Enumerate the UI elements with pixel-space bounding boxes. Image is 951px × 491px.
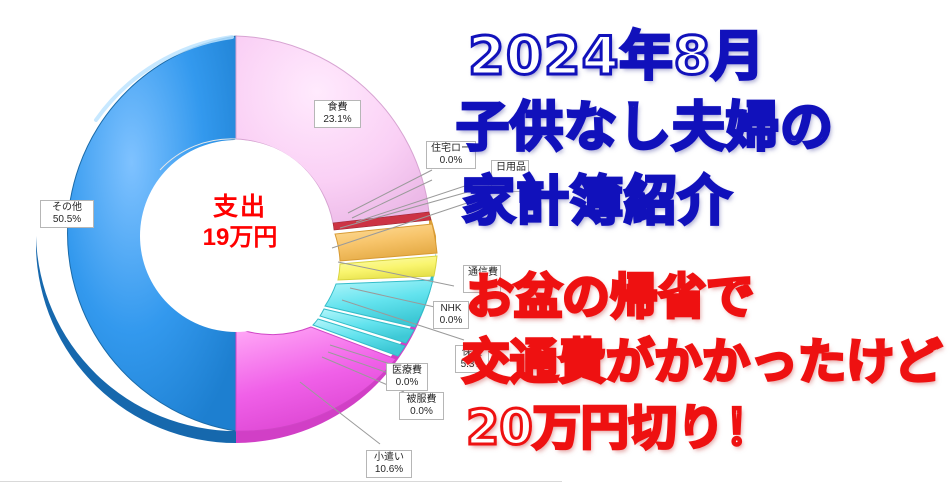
headline-red-line2: 交通費がかかったけど — [462, 322, 942, 392]
callout-pocket-money[interactable]: 小遣い 10.6% — [366, 450, 412, 478]
callout-food-name: 食費 — [319, 102, 356, 114]
callout-other-pct: 50.5% — [45, 214, 89, 226]
headline-blue-line3: 家計簿紹介 — [462, 159, 732, 235]
callout-food-pct: 23.1% — [319, 114, 356, 126]
callout-pocket-money-name: 小遣い — [371, 452, 407, 464]
callout-food[interactable]: 食費 23.1% — [314, 100, 361, 128]
callout-clothing[interactable]: 被服費 0.0% — [399, 392, 444, 420]
callout-pocket-money-pct: 10.6% — [371, 464, 407, 476]
callout-medical-pct: 0.0% — [391, 377, 423, 389]
callout-clothing-name: 被服費 — [404, 394, 439, 406]
callout-other-name: その他 — [45, 202, 89, 214]
callout-nhk-name: NHK — [438, 303, 464, 315]
donut-hole — [140, 140, 332, 332]
headline-red-line1: お盆の帰省で — [466, 257, 754, 327]
slice-transport — [335, 224, 437, 261]
bottom-divider — [0, 481, 562, 482]
callout-other[interactable]: その他 50.5% — [40, 200, 94, 228]
screenshot-canvas: 支出 19万円 その他 50.5% 食費 23.1% 住宅ローン 0.0% 日用… — [0, 0, 951, 491]
callout-clothing-pct: 0.0% — [404, 406, 439, 418]
callout-medical-name: 医療費 — [391, 365, 423, 377]
headline-blue-line2: 子供なし夫婦の — [456, 85, 834, 161]
callout-medical[interactable]: 医療費 0.0% — [386, 363, 428, 391]
headline-red-line3: 20万円切り！ — [466, 388, 773, 458]
callout-nhk-pct: 0.0% — [438, 315, 464, 327]
headline-blue-line1: 2024年8月 — [468, 14, 765, 90]
